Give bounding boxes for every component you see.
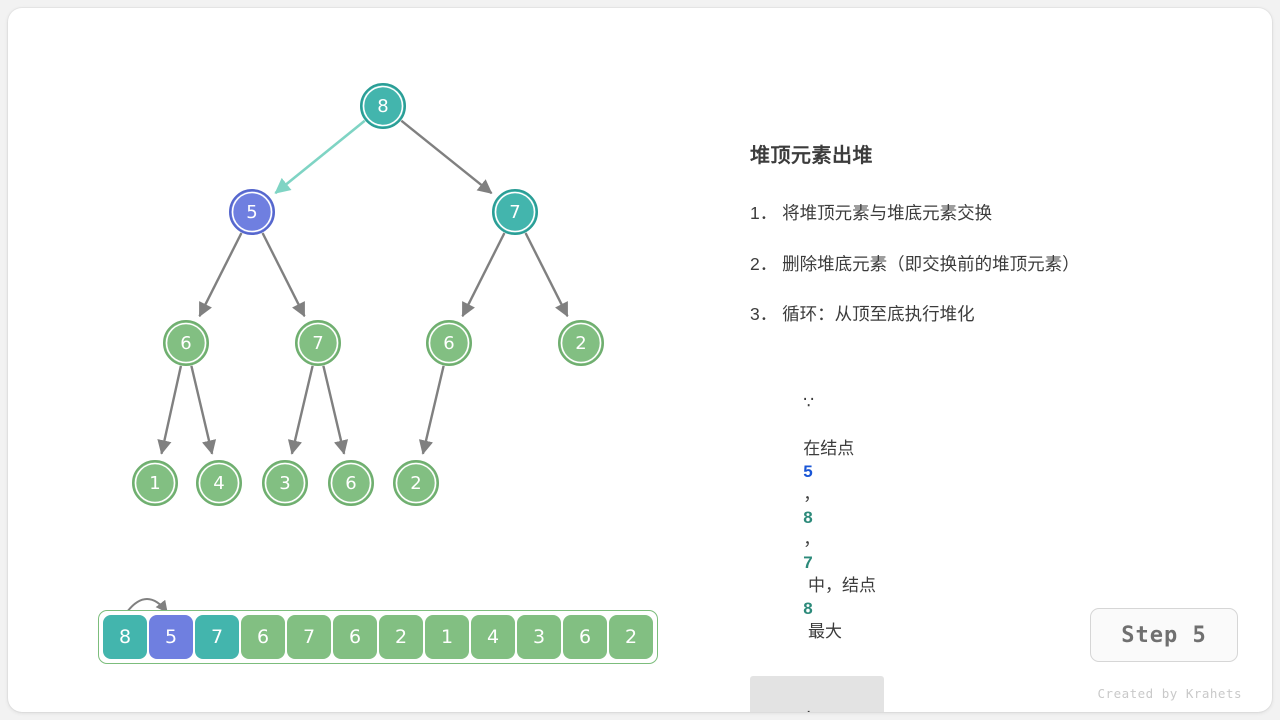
step-item-3: 3． 循环：从顶至底执行堆化 [750, 303, 1220, 327]
tree-node[interactable]: 4 [197, 461, 241, 505]
array-cell[interactable]: 6 [333, 615, 377, 659]
step-item-2: 2． 删除堆底元素（即交换前的堆顶元素） [750, 253, 1220, 277]
because-sep-2: ， [803, 530, 825, 549]
tree-edge [263, 233, 305, 316]
because-node-1: 5 [803, 462, 812, 481]
array-cell[interactable]: 5 [149, 615, 193, 659]
tree-node-label: 5 [246, 202, 257, 223]
because-suffix: 最大 [803, 622, 842, 641]
array-cell[interactable]: 3 [517, 615, 561, 659]
tree-node[interactable]: 1 [133, 461, 177, 505]
tree-node[interactable]: 2 [559, 321, 603, 365]
array-cell[interactable]: 2 [609, 615, 653, 659]
because-node-3: 7 [803, 553, 812, 572]
tree-node-label: 6 [180, 333, 191, 354]
tree-node[interactable]: 7 [493, 190, 537, 234]
tree-edge [199, 233, 241, 316]
tree-nodes: 857676214362 [133, 84, 603, 505]
array-cell[interactable]: 1 [425, 615, 469, 659]
tree-node[interactable]: 6 [427, 321, 471, 365]
binary-tree-diagram: 857676214362 [8, 8, 708, 568]
tree-node[interactable]: 5 [230, 190, 274, 234]
step-item-1: 1． 将堆顶元素与堆底元素交换 [750, 202, 1220, 226]
tree-node-label: 2 [575, 333, 586, 354]
tree-edges [161, 121, 567, 454]
tree-edge [401, 121, 491, 194]
page-title: 堆顶元素出堆 [750, 144, 1220, 168]
because-prefix: 在结点 [803, 439, 859, 458]
tree-node[interactable]: 3 [263, 461, 307, 505]
tree-node-label: 6 [345, 473, 356, 494]
because-middle: 中，结点 [803, 576, 880, 595]
tree-edge [423, 366, 444, 454]
because-node-max: 8 [803, 599, 812, 618]
tree-node-label: 4 [213, 473, 224, 494]
therefore-symbol: ∴ [803, 706, 814, 712]
tree-node[interactable]: 6 [164, 321, 208, 365]
because-symbol: ∵ [803, 393, 814, 412]
credit-text: Created by Krahets [1082, 686, 1242, 701]
step-badge: Step 5 [1090, 608, 1238, 662]
tree-edge [292, 366, 313, 454]
array-cell[interactable]: 8 [103, 615, 147, 659]
array-cell[interactable]: 7 [195, 615, 239, 659]
tree-node[interactable]: 2 [394, 461, 438, 505]
tree-node-label: 6 [443, 333, 454, 354]
tree-edge [526, 233, 568, 316]
tree-edge [323, 366, 344, 454]
because-sep-1: ， [803, 485, 825, 504]
tree-node-label: 8 [377, 96, 388, 117]
slide-page: 857676214362 堆顶元素出堆 1． 将堆顶元素与堆底元素交换 2． 删… [0, 0, 1280, 720]
tree-edge [462, 233, 504, 316]
tree-node-label: 2 [410, 473, 421, 494]
tree-node-label: 7 [312, 333, 323, 354]
tree-node[interactable]: 6 [329, 461, 373, 505]
tree-edge [161, 366, 180, 454]
array-cell[interactable]: 6 [563, 615, 607, 659]
array-cell[interactable]: 4 [471, 615, 515, 659]
tree-node-label: 3 [279, 473, 290, 494]
tree-node-label: 1 [149, 473, 160, 494]
reason-because-line: ∵ 在结点 5 ， 8 ， 7 中，结点 8 最大 [750, 363, 889, 673]
slide-card: 857676214362 堆顶元素出堆 1． 将堆顶元素与堆底元素交换 2． 删… [8, 8, 1272, 712]
array-representation: 857676214362 [98, 578, 698, 668]
because-node-2: 8 [803, 508, 812, 527]
array-cells-container: 857676214362 [98, 610, 658, 664]
tree-node-label: 7 [509, 202, 520, 223]
tree-edge [191, 366, 212, 454]
array-cell[interactable]: 6 [241, 615, 285, 659]
tree-node[interactable]: 8 [361, 84, 405, 128]
tree-edge [275, 121, 364, 193]
array-cell[interactable]: 2 [379, 615, 423, 659]
tree-node[interactable]: 7 [296, 321, 340, 365]
array-cell[interactable]: 7 [287, 615, 331, 659]
reason-therefore-line: ∴ 交换结点 5 与结点 8 [750, 676, 884, 712]
